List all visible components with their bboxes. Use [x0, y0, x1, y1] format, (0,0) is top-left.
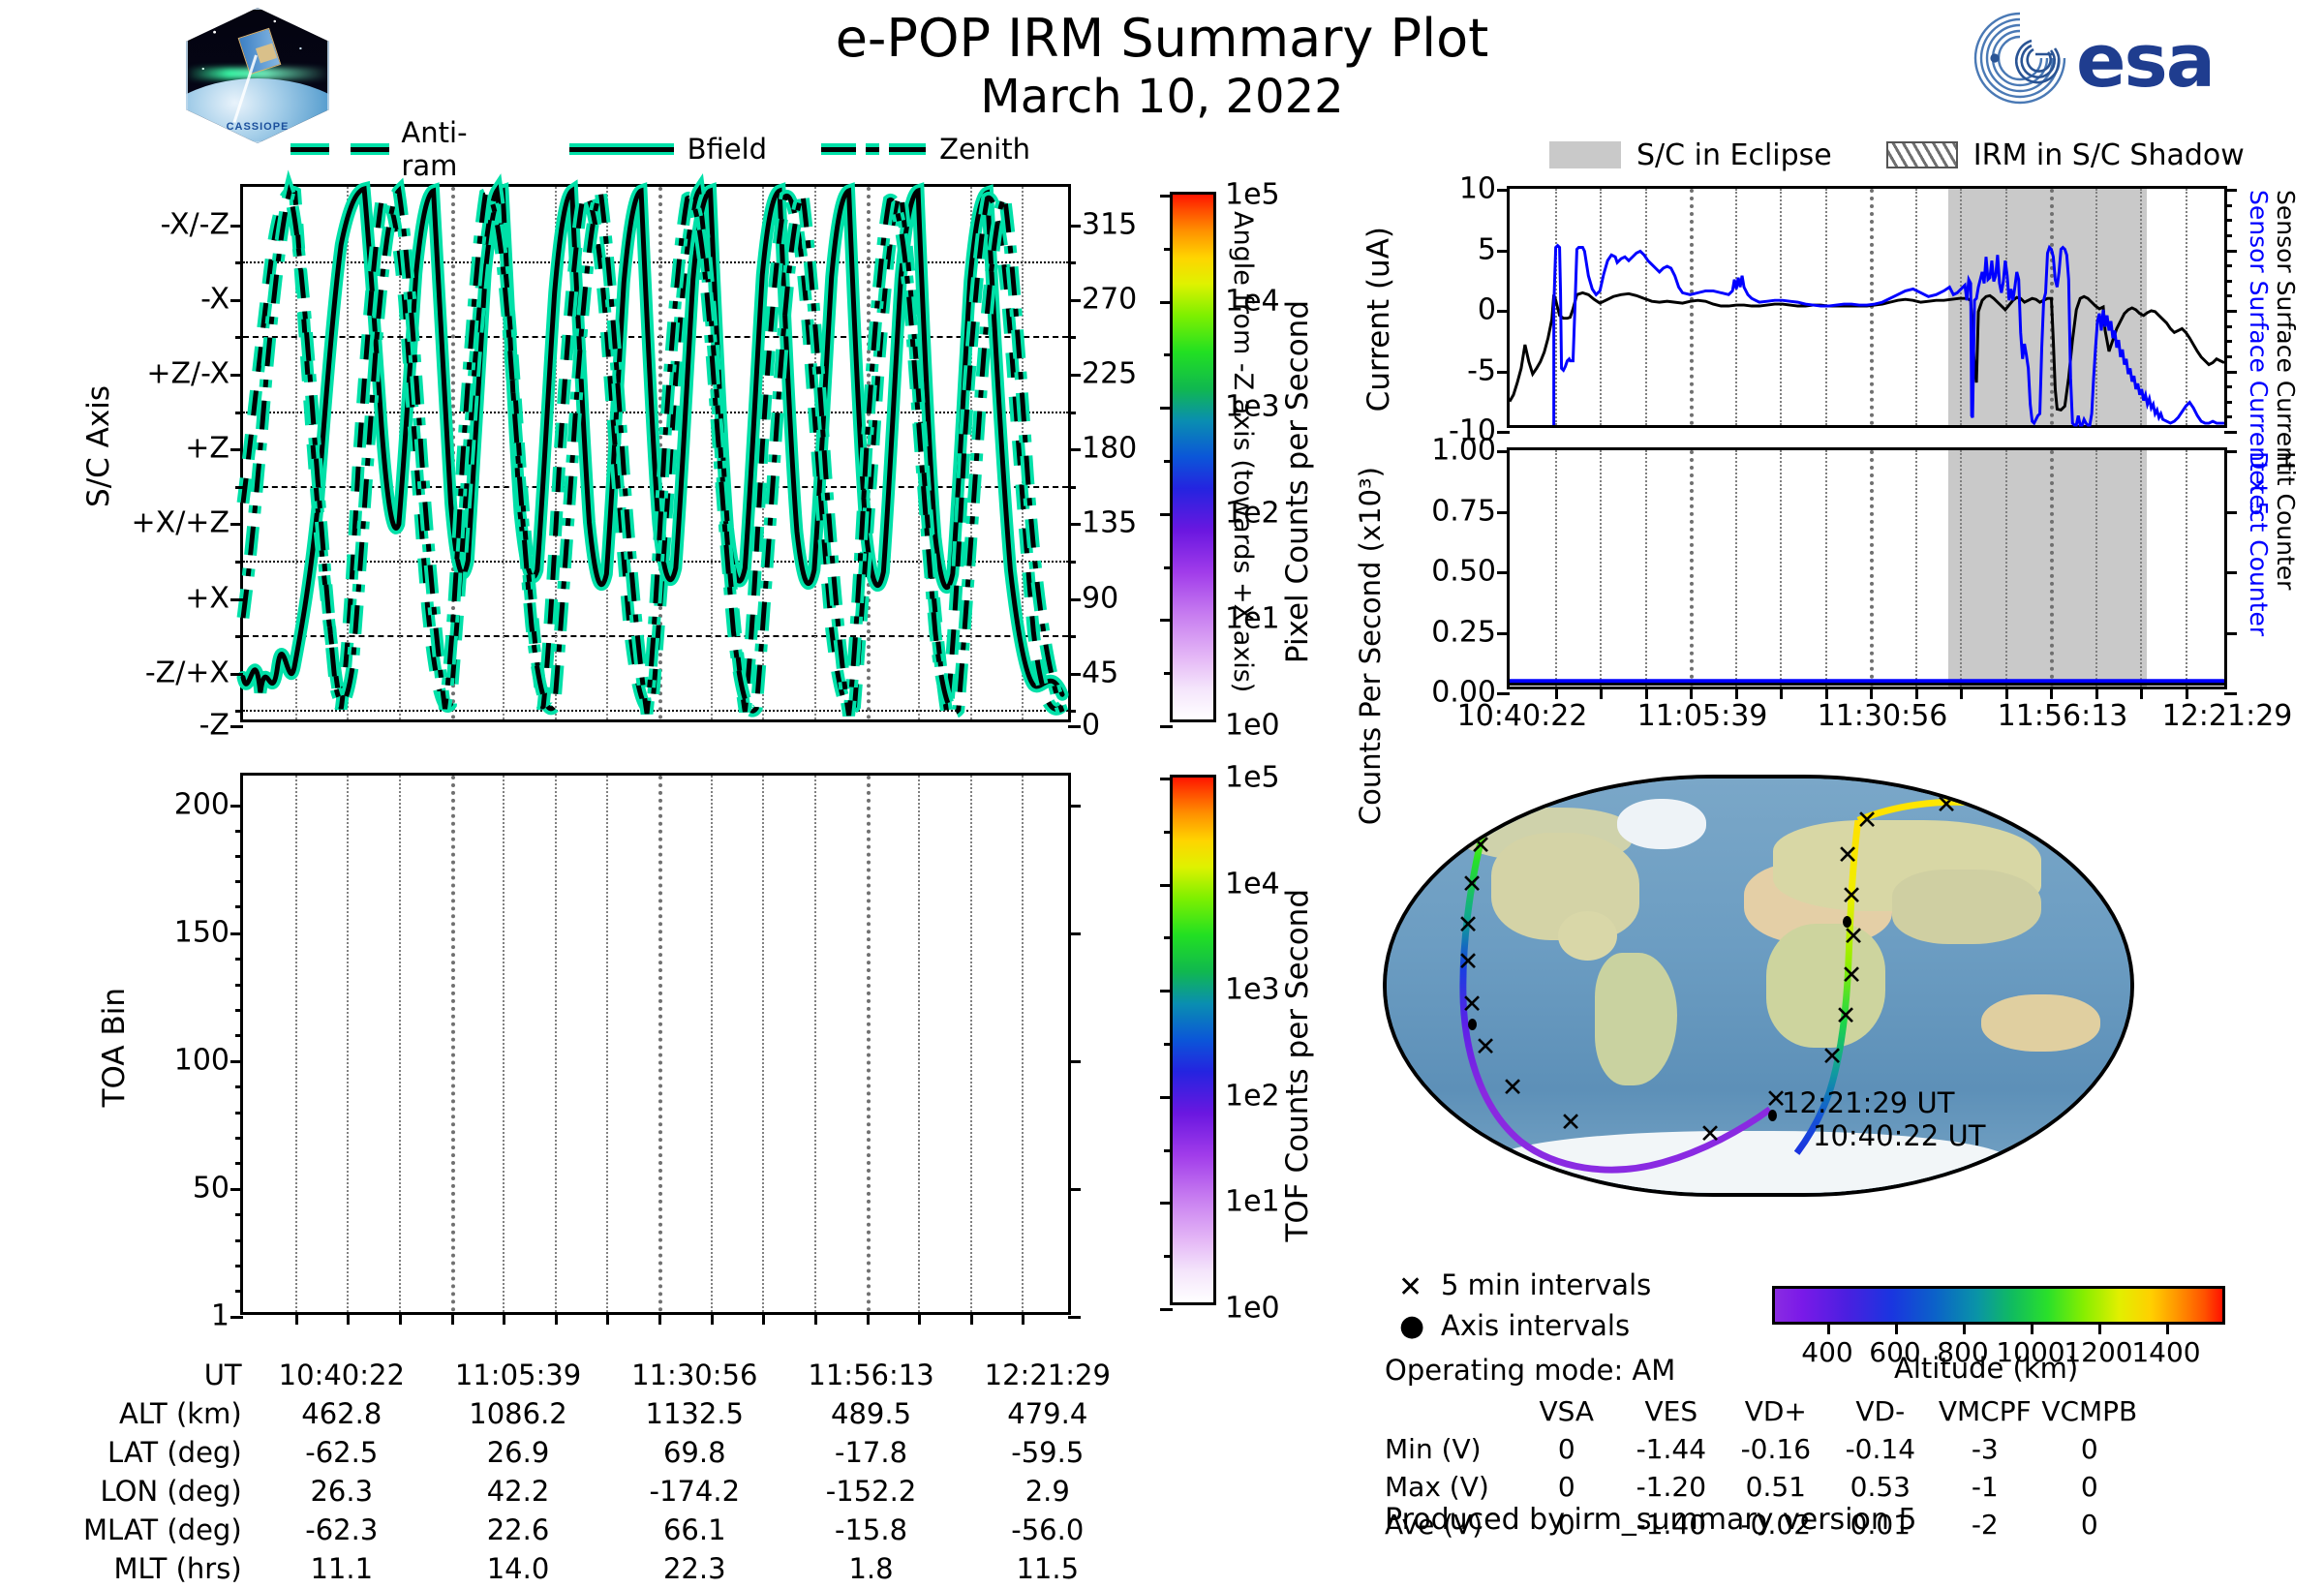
- ephem-cell: 26.3: [254, 1472, 430, 1511]
- tof-cb-tick-2: 1e3: [1225, 973, 1280, 1007]
- axis-ytick-right-0: 315: [1082, 207, 1137, 241]
- tof-cb-tick-0: 1e5: [1225, 761, 1280, 795]
- time-tick-1: 11:05:39: [1605, 699, 1799, 733]
- volt-col-1: VES: [1619, 1392, 1724, 1430]
- footer-produced-by: Produced by irm_summary version 5: [1385, 1503, 1916, 1537]
- toa-panel-ylabel: TOA Bin: [97, 988, 132, 1107]
- track-marker-dot: [1483, 817, 1492, 829]
- table-row: MLT (hrs) 11.1 14.0 22.3 1.8 11.5: [58, 1549, 1136, 1588]
- axis-ytick-left-6: -Z/+X: [145, 656, 229, 689]
- legend-x-marker-icon: ✕: [1398, 1270, 1422, 1304]
- table-row: LON (deg) 26.3 42.2 -174.2 -152.2 2.9: [58, 1472, 1136, 1511]
- time-tick-4: 12:21:29: [2130, 699, 2324, 733]
- toa-ytick-1: 150: [174, 916, 229, 950]
- table-row: Max (V) 0 -1.20 0.51 0.53 -1 0: [1385, 1468, 2142, 1506]
- current-traces: [1510, 189, 2224, 425]
- track-marker-dot: [1768, 1110, 1777, 1121]
- tof-counts-colorbar-label: TOF Counts per Second: [1280, 889, 1315, 1242]
- legend-label-shadow: IRM in S/C Shadow: [1973, 138, 2245, 172]
- volt-cell: 0: [2037, 1506, 2142, 1543]
- axis-orientation-plot: -X/-Z -X +Z/-X +Z +X/+Z +X -Z/+X -Z 315 …: [240, 184, 1071, 722]
- ephem-cell: 11.1: [254, 1549, 430, 1588]
- pixel-cb-tick-2: 1e3: [1225, 390, 1280, 424]
- alt-cb-tick-0: 400: [1801, 1336, 1852, 1368]
- ephem-cell: 26.9: [430, 1433, 606, 1472]
- current-panel-ylabel: Current (uA): [1361, 227, 1396, 412]
- legend-item-zenith: Zenith: [821, 133, 1085, 166]
- volt-col-3: VD-: [1828, 1392, 1933, 1430]
- ephem-cell: -15.8: [782, 1511, 959, 1549]
- shading-legend: S/C in Eclipse IRM in S/C Shadow: [1549, 136, 2285, 174]
- track-marker-x: ✕: [1840, 885, 1863, 908]
- counts-right-label-black: Hit Counter: [2272, 451, 2300, 590]
- counts-ytick-2: 0.50: [1431, 555, 1496, 589]
- ephem-row-label-2: LAT (deg): [58, 1433, 254, 1472]
- legend-item-shadow: IRM in S/C Shadow: [1886, 138, 2245, 172]
- track-marker-x: ✕: [1501, 1077, 1524, 1100]
- legend-label-zenith: Zenith: [939, 133, 1030, 166]
- pixel-cb-tick-1: 1e4: [1225, 284, 1280, 318]
- volt-row-label-0: Min (V): [1385, 1430, 1514, 1468]
- ephem-cell: 462.8: [254, 1394, 430, 1433]
- hatched-swatch-icon: [1886, 141, 1958, 168]
- toa-ytick-2: 100: [174, 1044, 229, 1078]
- ephem-cell: 11:30:56: [606, 1356, 782, 1394]
- tof-cb-tick-5: 1e0: [1225, 1292, 1280, 1326]
- legend-label-axis-intervals: Axis intervals: [1441, 1309, 1630, 1342]
- table-header-row: VSA VES VD+ VD- VMCPF VCMPB: [1385, 1392, 2142, 1430]
- esa-logo: esa: [1972, 10, 2233, 107]
- tof-cb-tick-1: 1e4: [1225, 867, 1280, 901]
- volt-cell: -0.16: [1724, 1430, 1828, 1468]
- pixel-counts-colorbar: 1e5 1e4 1e3 1e2 1e1 1e0: [1170, 192, 1216, 722]
- track-marker-x: ✕: [1935, 794, 1958, 817]
- axis-ytick-left-0: -X/-Z: [161, 207, 229, 241]
- legend-label-eclipse: S/C in Eclipse: [1636, 138, 1832, 172]
- track-marker-dot: [1468, 1019, 1477, 1030]
- counts-ytick-3: 0.25: [1431, 615, 1496, 649]
- ephem-cell: 489.5: [782, 1394, 959, 1433]
- track-marker-x: ✕: [1855, 809, 1879, 833]
- tof-cb-tick-3: 1e2: [1225, 1079, 1280, 1113]
- volt-col-0: VSA: [1514, 1392, 1619, 1430]
- current-ytick-3: -5: [1467, 353, 1496, 387]
- ephem-cell: -62.3: [254, 1511, 430, 1549]
- track-marker-x: ✕: [1836, 844, 1859, 868]
- ephem-row-label-0: UT: [58, 1356, 254, 1394]
- volt-row-label-1: Max (V): [1385, 1468, 1514, 1506]
- table-row: Min (V) 0 -1.44 -0.16 -0.14 -3 0: [1385, 1430, 2142, 1468]
- table-row: MLAT (deg) -62.3 22.6 66.1 -15.8 -56.0: [58, 1511, 1136, 1549]
- dashed-line-icon: [290, 143, 387, 155]
- axis-ytick-left-4: +X/+Z: [132, 506, 229, 540]
- ephemeris-table: UT 10:40:22 11:05:39 11:30:56 11:56:13 1…: [58, 1356, 1136, 1588]
- track-marker-x: ✕: [1842, 926, 1865, 949]
- legend-dot-marker-icon: ●: [1399, 1309, 1424, 1343]
- ephem-row-label-1: ALT (km): [58, 1394, 254, 1433]
- pixel-cb-tick-4: 1e1: [1225, 602, 1280, 636]
- operating-mode-label: Operating mode: AM: [1385, 1354, 1675, 1387]
- current-ytick-0: 10: [1459, 172, 1496, 206]
- volt-cell: -0.14: [1828, 1430, 1933, 1468]
- ephem-cell: -174.2: [606, 1472, 782, 1511]
- ephem-cell: 12:21:29: [960, 1356, 1136, 1394]
- pixel-cb-tick-5: 1e0: [1225, 709, 1280, 743]
- ephem-cell: 66.1: [606, 1511, 782, 1549]
- pixel-cb-tick-3: 1e2: [1225, 496, 1280, 530]
- altitude-colorbar: 400 600 800 1000 1200 1400: [1772, 1286, 2225, 1325]
- esa-wordmark: esa: [2076, 17, 2214, 104]
- axis-ytick-left-5: +X: [185, 581, 229, 615]
- current-right-label-black: Sensor Surface Current: [2272, 190, 2300, 472]
- counts-ytick-0: 1.00: [1431, 434, 1496, 468]
- ephem-cell: 11:05:39: [430, 1356, 606, 1394]
- volt-col-4: VMCPF: [1933, 1392, 2037, 1430]
- ephem-cell: 14.0: [430, 1549, 606, 1588]
- ephem-cell: -152.2: [782, 1472, 959, 1511]
- pixel-cb-tick-0: 1e5: [1225, 178, 1280, 212]
- eclipse-swatch-icon: [1549, 141, 1621, 168]
- volt-col-2: VD+: [1724, 1392, 1828, 1430]
- volt-cell: 0.51: [1724, 1468, 1828, 1506]
- time-tick-2: 11:30:56: [1786, 699, 1979, 733]
- axis-ytick-right-6: 45: [1082, 656, 1118, 689]
- ephem-cell: -56.0: [960, 1511, 1136, 1549]
- track-end-label: 12:21:29 UT: [1782, 1086, 1954, 1119]
- track-marker-x: ✕: [1469, 835, 1492, 858]
- altitude-colorbar-label: Altitude (km): [1894, 1352, 2078, 1385]
- volt-cell: -1: [1933, 1468, 2037, 1506]
- axis-ytick-right-5: 90: [1082, 581, 1118, 615]
- ground-track-traces: [1387, 779, 2130, 1193]
- current-ytick-2: 0: [1478, 293, 1496, 327]
- track-marker-x: ✕: [1456, 951, 1480, 974]
- track-marker-x: ✕: [1820, 1046, 1844, 1069]
- volt-cell: -2: [1933, 1506, 2037, 1543]
- ephem-cell: 2.9: [960, 1472, 1136, 1511]
- solid-line-icon: [569, 143, 674, 155]
- volt-cell: 0: [1514, 1468, 1619, 1506]
- ephem-cell: -17.8: [782, 1433, 959, 1472]
- axis-ytick-right-2: 225: [1082, 357, 1137, 391]
- legend-label-5min: 5 min intervals: [1441, 1268, 1651, 1301]
- ephem-cell: -59.5: [960, 1433, 1136, 1472]
- legend-label-anti-ram: Anti-ram: [401, 116, 514, 182]
- axis-ytick-right-3: 180: [1082, 432, 1137, 466]
- ephem-cell: 11.5: [960, 1549, 1136, 1588]
- axis-orientation-traces: [243, 187, 1068, 719]
- esa-swirl-icon: [1972, 10, 2078, 107]
- ground-track-map: ✕ ✕ ✕ ✕ ✕ ✕ ✕ ✕ ✕ ✕ ✕ ✕ ✕ ✕ ✕ ✕ ✕ ✕ ✕ 12…: [1383, 775, 2134, 1197]
- axis-ytick-left-7: -Z: [199, 709, 229, 743]
- axis-ytick-right-7: 0: [1082, 709, 1100, 743]
- ephem-row-label-3: LON (deg): [58, 1472, 254, 1511]
- ephem-cell: 1132.5: [606, 1394, 782, 1433]
- table-row: ALT (km) 462.8 1086.2 1132.5 489.5 479.4: [58, 1394, 1136, 1433]
- track-start-label: 10:40:22 UT: [1813, 1119, 1985, 1152]
- counts-panel-ylabel: Counts Per Second (x10³): [1356, 467, 1385, 825]
- toa-ytick-3: 50: [193, 1172, 229, 1206]
- legend-item-eclipse: S/C in Eclipse: [1549, 138, 1832, 172]
- current-ytick-1: 5: [1478, 232, 1496, 266]
- ephem-cell: 479.4: [960, 1394, 1136, 1433]
- table-row: UT 10:40:22 11:05:39 11:30:56 11:56:13 1…: [58, 1356, 1136, 1394]
- ephem-cell: 42.2: [430, 1472, 606, 1511]
- ephem-cell: 69.8: [606, 1433, 782, 1472]
- track-marker-dot: [1843, 916, 1851, 928]
- axis-ytick-right-4: 135: [1082, 506, 1137, 540]
- axis-ytick-left-3: +Z: [185, 432, 229, 466]
- track-marker-x: ✕: [1474, 1036, 1497, 1059]
- tof-cb-tick-4: 1e1: [1225, 1185, 1280, 1219]
- table-row: LAT (deg) -62.5 26.9 69.8 -17.8 -59.5: [58, 1433, 1136, 1472]
- time-tick-0: 10:40:22: [1425, 699, 1619, 733]
- axis-ytick-left-2: +Z/-X: [146, 357, 229, 391]
- volt-cell: 0: [1514, 1430, 1619, 1468]
- alt-cb-tick-5: 1400: [2131, 1336, 2200, 1368]
- toa-bin-plot: 200 150 100 50 1: [240, 773, 1071, 1315]
- axis-ytick-right-1: 270: [1082, 282, 1137, 316]
- counts-traces: [1510, 450, 2224, 687]
- track-marker-x: ✕: [1460, 993, 1483, 1017]
- axis-orientation-legend: Anti-ram Bfield Zenith: [290, 130, 1085, 168]
- toa-ytick-0: 200: [174, 788, 229, 822]
- ephem-cell: 10:40:22: [254, 1356, 430, 1394]
- ephem-cell: 1086.2: [430, 1394, 606, 1433]
- track-marker-x: ✕: [1456, 914, 1480, 937]
- tof-counts-colorbar: 1e5 1e4 1e3 1e2 1e1 1e0: [1170, 775, 1216, 1305]
- sensor-current-plot: 10 5 0 -5 -10: [1507, 186, 2227, 428]
- ephem-cell: 22.3: [606, 1549, 782, 1588]
- legend-item-bfield: Bfield: [569, 133, 821, 166]
- counts-ytick-1: 0.75: [1431, 494, 1496, 528]
- toa-ytick-4: 1: [211, 1299, 229, 1333]
- axis-ytick-left-1: -X: [200, 282, 229, 316]
- volt-cell: -1.44: [1619, 1430, 1724, 1468]
- ephem-cell: 11:56:13: [782, 1356, 959, 1394]
- legend-item-anti-ram: Anti-ram: [290, 116, 569, 182]
- counts-right-label-blue: Detect Counter: [2245, 451, 2273, 636]
- ephem-row-label-4: MLAT (deg): [58, 1511, 254, 1549]
- volt-cell: -3: [1933, 1430, 2037, 1468]
- track-marker-x: ✕: [1834, 1005, 1857, 1028]
- ephem-row-label-5: MLT (hrs): [58, 1549, 254, 1588]
- dashdot-line-icon: [821, 143, 926, 155]
- volt-cell: -1.20: [1619, 1468, 1724, 1506]
- ephem-cell: 22.6: [430, 1511, 606, 1549]
- axis-panel-ylabel: S/C Axis: [81, 385, 116, 507]
- volt-cell: 0.53: [1828, 1468, 1933, 1506]
- legend-label-bfield: Bfield: [688, 133, 767, 166]
- ephem-cell: -62.5: [254, 1433, 430, 1472]
- volt-cell: 0: [2037, 1430, 2142, 1468]
- volt-cell: 0: [2037, 1468, 2142, 1506]
- ephem-cell: 1.8: [782, 1549, 959, 1588]
- track-marker-x: ✕: [1698, 1123, 1722, 1146]
- track-marker-x: ✕: [1840, 964, 1863, 988]
- volt-col-5: VCMPB: [2037, 1392, 2142, 1430]
- pixel-counts-colorbar-label: Pixel Counts per Second: [1280, 300, 1315, 663]
- counts-per-second-plot: 1.00 0.75 0.50 0.25 0.00: [1507, 447, 2227, 689]
- track-marker-x: ✕: [1559, 1112, 1582, 1135]
- track-marker-x: ✕: [1460, 873, 1483, 897]
